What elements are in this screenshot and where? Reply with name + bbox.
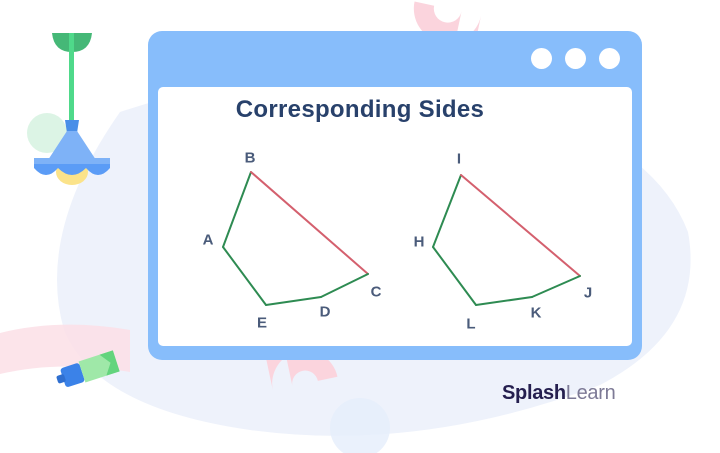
polygon-edge-LH [433,247,476,305]
polygon-edge-DE [266,297,321,305]
vertex-label-j: J [584,285,592,302]
polygon-edge-EA [223,247,266,305]
vertex-label-c: C [371,284,382,301]
vertex-label-i: I [457,151,461,168]
vertex-label-d: D [320,304,331,321]
polygon-edge-IJ [461,175,580,276]
vertex-label-e: E [257,315,267,332]
pentagon-hijkl [433,175,580,305]
brand-splash: Splash [502,382,566,404]
pentagon-abcde [223,172,368,305]
polygon-edge-BC [251,172,368,274]
vertex-label-l: L [466,316,475,333]
vertex-label-b: B [245,150,256,167]
brand-logo: SplashLearn [502,382,615,405]
polygon-edge-HI [433,175,461,247]
vertex-label-a: A [203,232,214,249]
brand-learn: Learn [566,382,616,404]
polygon-edge-AB [223,172,251,247]
vertex-label-h: H [414,234,425,251]
vertex-label-k: K [531,305,542,322]
polygon-edge-KL [476,297,532,305]
illustration-canvas: Corresponding Sides ABCDEHIJKL SplashLea… [0,0,720,453]
polygon-edge-CD [321,274,368,297]
polygon-edge-JK [532,276,580,297]
